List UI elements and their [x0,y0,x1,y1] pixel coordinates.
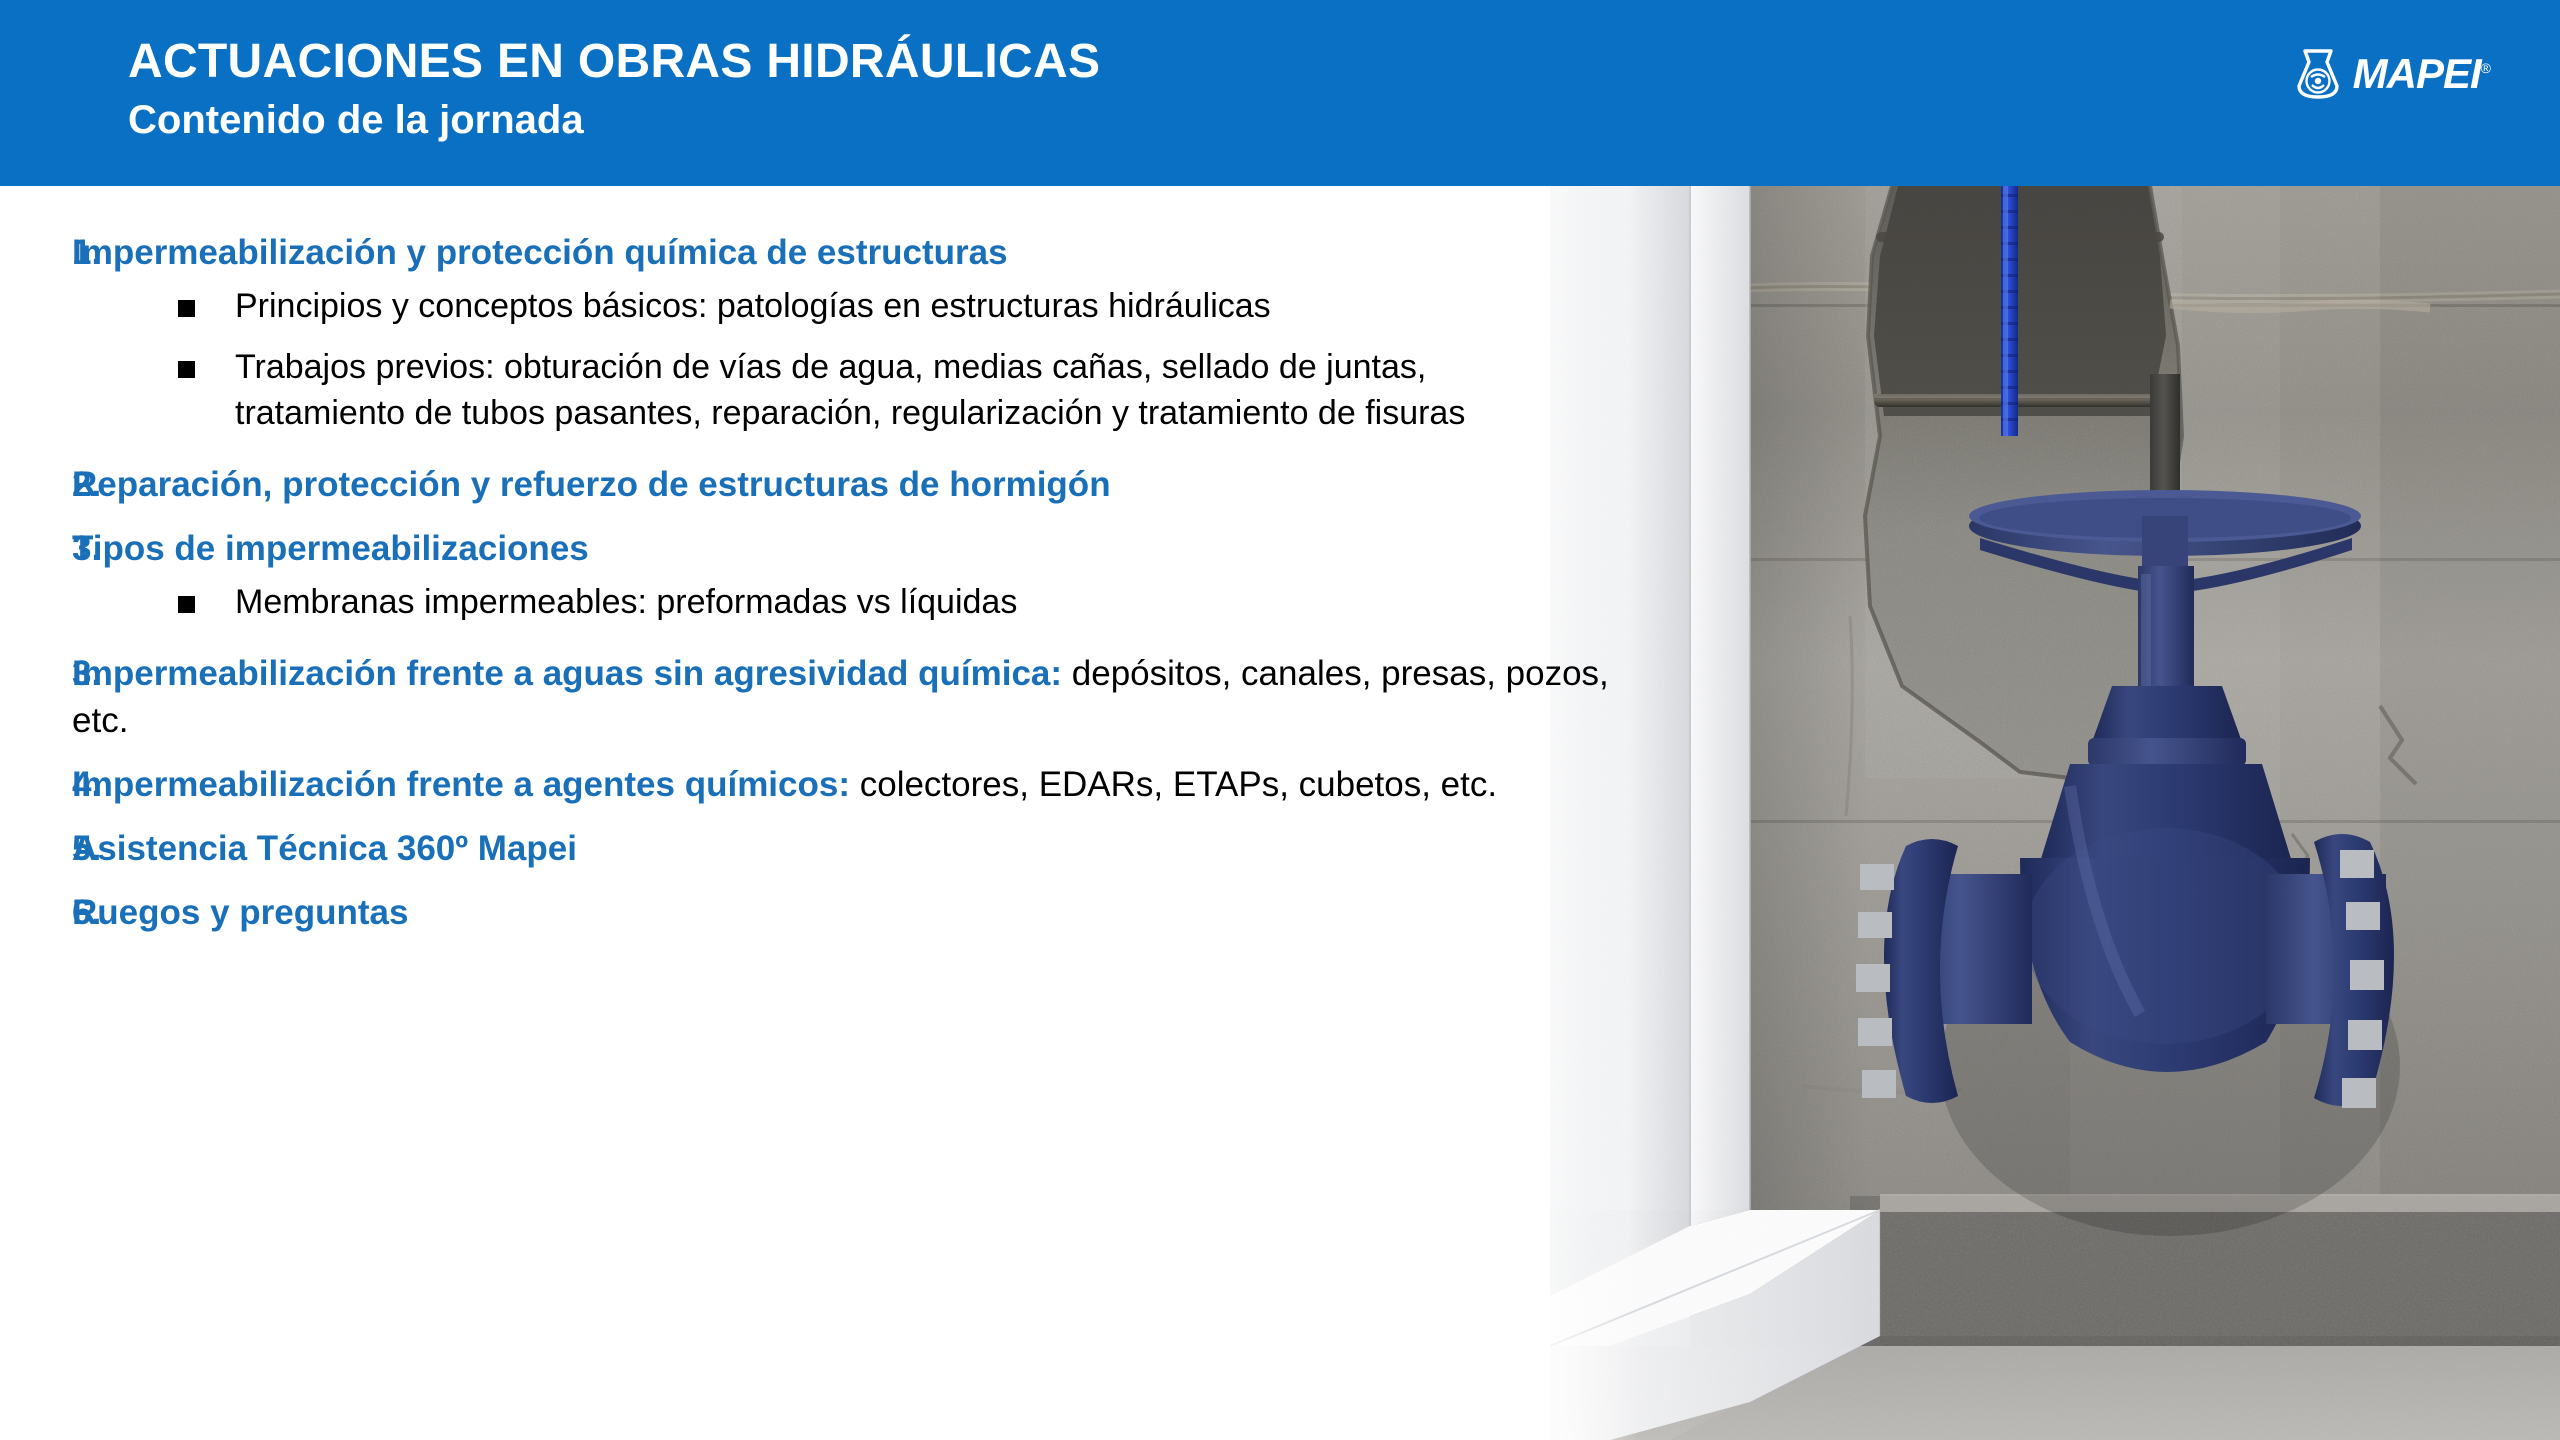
agenda-item: 6. Ruegos y preguntas [0,890,1640,936]
agenda-subitem-text: Trabajos previos: obturación de vías de … [195,345,1640,435]
agenda-list: 1. Impermeabilización y protección quími… [0,230,1640,954]
agenda-item-heading: Impermeabilización frente a aguas sin ag… [72,654,1062,693]
agenda-item-trailer: colectores, EDARs, ETAPs, cubetos, etc. [850,765,1497,804]
agenda-item-heading: Tipos de impermeabilizaciones [72,529,589,568]
agenda-item-heading: Asistencia Técnica 360º Mapei [72,829,577,868]
mapei-shield-icon [2293,48,2343,100]
agenda-item: 4. Impermeabilización frente a agentes q… [0,762,1640,808]
square-bullet-icon [0,345,195,378]
page-subtitle: Contenido de la jornada [128,96,1100,144]
agenda-item-number: 2. [0,462,72,508]
agenda-subitem-text: Principios y conceptos básicos: patologí… [195,284,1640,329]
agenda-item-number: 3. [0,526,72,572]
agenda-item: 5. Asistencia Técnica 360º Mapei [0,826,1640,872]
agenda-item-number: 3. [0,651,72,697]
agenda-subitem-text: Membranas impermeables: preformadas vs l… [195,580,1640,625]
agenda-subitem: Membranas impermeables: preformadas vs l… [0,580,1640,625]
agenda-item: 3. Tipos de impermeabilizaciones [0,526,1640,572]
registered-mark: ® [2481,60,2490,76]
page-title: ACTUACIONES EN OBRAS HIDRÁULICAS [128,34,1100,90]
agenda-item-text: Reparación, protección y refuerzo de est… [72,462,1640,508]
agenda-item-text: Ruegos y preguntas [72,890,1640,936]
agenda-subitem: Principios y conceptos básicos: patologí… [0,284,1640,329]
square-bullet-icon [0,580,195,613]
agenda-item: 2. Reparación, protección y refuerzo de … [0,462,1640,508]
slide: ACTUACIONES EN OBRAS HIDRÁULICAS Conteni… [0,0,2560,1440]
mapei-wordmark: MAPEI® [2353,50,2490,98]
agenda-item-text: Tipos de impermeabilizaciones [72,526,1640,572]
agenda-item-text: Impermeabilización frente a agentes quím… [72,762,1640,808]
agenda-item-number: 5. [0,826,72,872]
agenda-item-heading: Ruegos y preguntas [72,893,408,932]
agenda-item-heading: Reparación, protección y refuerzo de est… [72,465,1111,504]
agenda-item-text: Asistencia Técnica 360º Mapei [72,826,1640,872]
agenda-item: 1. Impermeabilización y protección quími… [0,230,1640,276]
agenda-item-heading: Impermeabilización y protección química … [72,233,1008,272]
agenda-subitem: Trabajos previos: obturación de vías de … [0,345,1640,435]
agenda-item-text: Impermeabilización y protección química … [72,230,1640,276]
rebar-vertical-blue [2001,186,2018,436]
agenda-item-number: 1. [0,230,72,276]
mapei-logo: MAPEI® [2293,48,2490,100]
header-titles: ACTUACIONES EN OBRAS HIDRÁULICAS Conteni… [128,34,1100,144]
agenda-item: 3. Impermeabilización frente a aguas sin… [0,651,1640,743]
agenda-item-number: 4. [0,762,72,808]
slide-header: ACTUACIONES EN OBRAS HIDRÁULICAS Conteni… [0,0,2560,186]
agenda-item-number: 6. [0,890,72,936]
agenda-item-text: Impermeabilización frente a aguas sin ag… [72,651,1640,743]
slide-photo [1550,186,2560,1440]
photo-illustration [1550,186,2560,1440]
valve-stem [2150,374,2180,504]
square-bullet-icon [0,284,195,317]
agenda-item-heading: Impermeabilización frente a agentes quím… [72,765,850,804]
valve-collar [2092,686,2242,742]
